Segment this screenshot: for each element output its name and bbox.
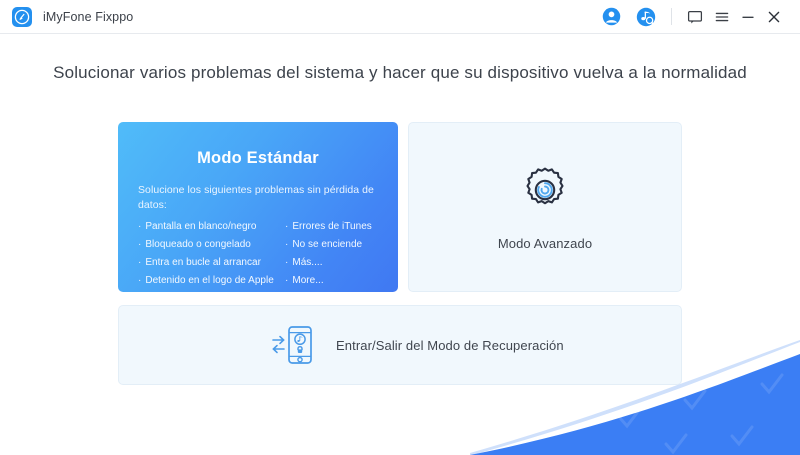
menu-icon[interactable]: [709, 0, 735, 34]
fixppo-logo-icon: [12, 7, 32, 27]
toolbar-separator: [671, 8, 672, 25]
advanced-mode-card[interactable]: Modo Avanzado: [408, 122, 682, 292]
list-item-more-es[interactable]: Más....: [285, 256, 384, 270]
minimize-icon[interactable]: [735, 0, 761, 34]
advanced-mode-label: Modo Avanzado: [498, 236, 592, 251]
music-search-icon[interactable]: [632, 0, 660, 34]
gear-icon: [519, 164, 571, 221]
account-icon[interactable]: [597, 0, 625, 34]
standard-mode-card[interactable]: Modo Estándar Solucione los siguientes p…: [118, 122, 398, 292]
standard-mode-subtitle: Solucione los siguientes problemas sin p…: [138, 183, 380, 213]
standard-mode-title: Modo Estándar: [118, 149, 398, 168]
close-icon[interactable]: [761, 0, 787, 34]
list-item: Entra en bucle al arrancar: [138, 256, 285, 270]
title-bar-left: iMyFone Fixppo: [0, 7, 133, 27]
app-window: iMyFone Fixppo: [0, 0, 800, 455]
feedback-icon[interactable]: [681, 0, 709, 34]
app-title: iMyFone Fixppo: [43, 10, 133, 24]
list-item-more-en[interactable]: More...: [285, 274, 384, 288]
phone-recovery-icon: [271, 323, 319, 367]
recovery-mode-label: Entrar/Salir del Modo de Recuperación: [336, 338, 564, 353]
list-item: No se enciende: [285, 238, 384, 252]
list-item: Pantalla en blanco/negro: [138, 220, 285, 234]
list-item: Detenido en el logo de Apple: [138, 274, 285, 288]
title-bar-controls: [597, 0, 800, 33]
list-item: Bloqueado o congelado: [138, 238, 285, 252]
list-item: Errores de iTunes: [285, 220, 384, 234]
recovery-mode-card[interactable]: Entrar/Salir del Modo de Recuperación: [118, 305, 682, 385]
standard-mode-problem-list: Pantalla en blanco/negro Errores de iTun…: [118, 220, 398, 288]
title-bar: iMyFone Fixppo: [0, 0, 800, 34]
page-title: Solucionar varios problemas del sistema …: [0, 63, 800, 83]
